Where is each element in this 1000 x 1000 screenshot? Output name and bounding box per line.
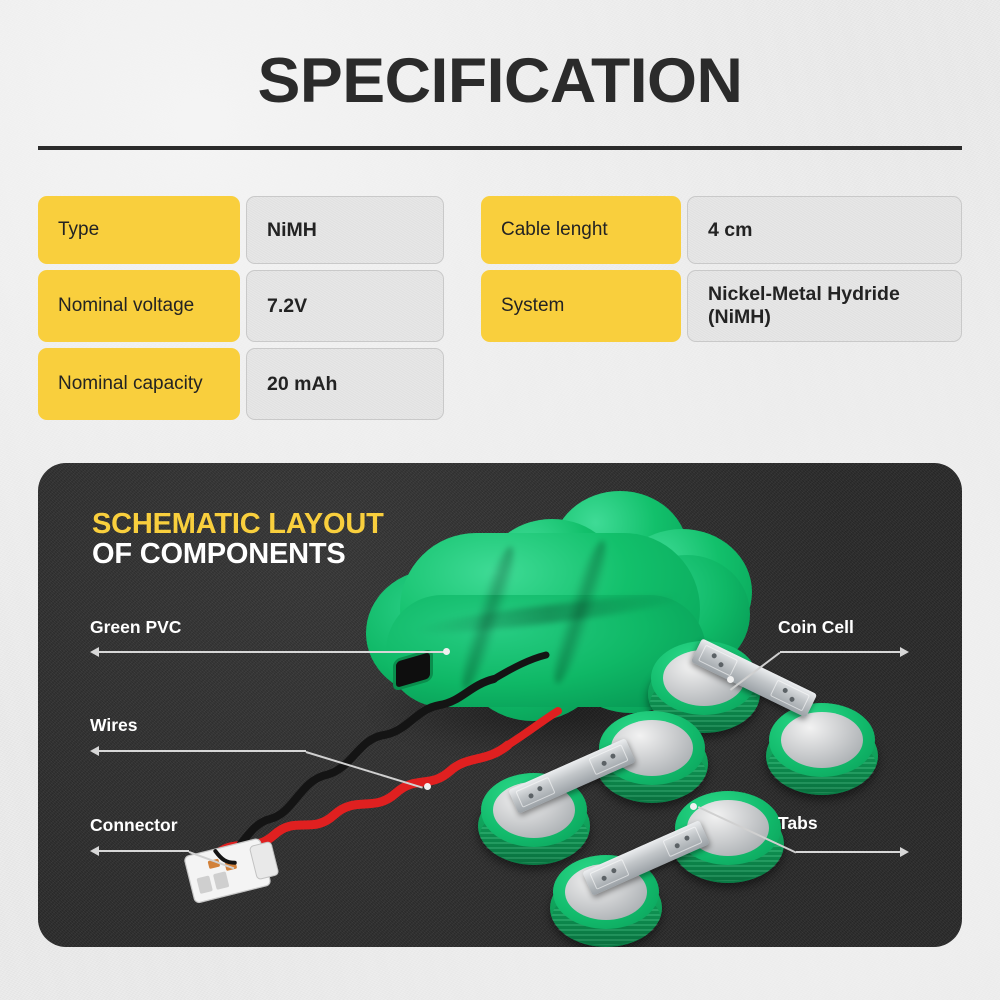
table-row: Nominal voltage 7.2V (38, 270, 444, 342)
spec-value: 4 cm (687, 196, 962, 264)
coin-cell-face (781, 712, 863, 768)
callout-leader-line (99, 850, 189, 852)
callout-label: Tabs (778, 813, 818, 834)
callout-label: Coin Cell (778, 617, 854, 638)
callout-label: Wires (90, 715, 138, 736)
spec-label: Type (38, 196, 240, 264)
table-row: System Nickel-Metal Hydride (NiMH) (481, 270, 962, 342)
schematic-heading-line1: SCHEMATIC LAYOUT (92, 509, 384, 539)
schematic-heading: SCHEMATIC LAYOUT OF COMPONENTS (92, 509, 384, 569)
spec-label: Nominal capacity (38, 348, 240, 420)
schematic-panel: SCHEMATIC LAYOUT OF COMPONENTS (38, 463, 962, 947)
callout-arrow-icon (900, 847, 909, 857)
spec-value: 7.2V (246, 270, 444, 342)
page-title: SPECIFICATION (0, 50, 1000, 113)
table-row: Nominal capacity 20 mAh (38, 348, 444, 420)
callout-arrow-icon (90, 846, 99, 856)
spec-value: Nickel-Metal Hydride (NiMH) (687, 270, 962, 342)
callout-leader-line (780, 651, 905, 653)
callout-arrow-icon (90, 746, 99, 756)
callout-label: Connector (90, 815, 178, 836)
title-divider (38, 146, 962, 150)
jst-connector (163, 811, 323, 931)
spec-value: NiMH (246, 196, 444, 264)
callout-arrow-icon (900, 647, 909, 657)
callout-arrow-icon (90, 647, 99, 657)
spec-label: Nominal voltage (38, 270, 240, 342)
table-row: Cable lenght 4 cm (481, 196, 962, 264)
callout-label: Green PVC (90, 617, 181, 638)
table-row: Type NiMH (38, 196, 444, 264)
specification-infographic: SPECIFICATION Type NiMH Nominal voltage … (0, 0, 1000, 1000)
callout-endpoint-dot (727, 676, 734, 683)
spec-label: System (481, 270, 681, 342)
callout-endpoint-dot (424, 783, 431, 790)
spec-table-left: Type NiMH Nominal voltage 7.2V Nominal c… (38, 196, 444, 426)
callout-endpoint-dot (443, 648, 450, 655)
callout-leader-line (99, 750, 306, 752)
callout-leader-line (796, 851, 906, 853)
callout-endpoint-dot (690, 803, 697, 810)
schematic-heading-line2: OF COMPONENTS (92, 539, 384, 569)
spec-value: 20 mAh (246, 348, 444, 420)
spec-label: Cable lenght (481, 196, 681, 264)
spec-table-right: Cable lenght 4 cm System Nickel-Metal Hy… (481, 196, 962, 348)
callout-leader-line (99, 651, 446, 653)
